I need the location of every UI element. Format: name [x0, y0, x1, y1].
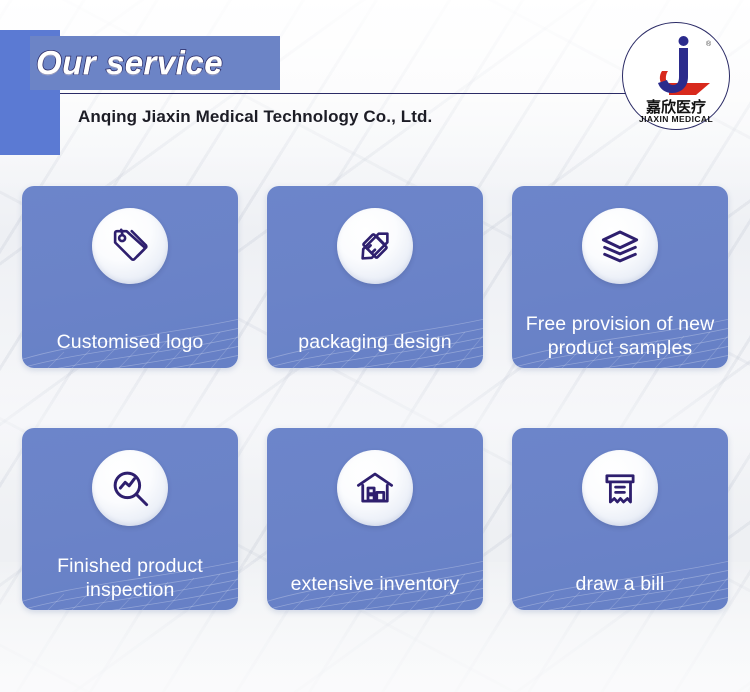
service-card-label: extensive inventory [275, 572, 475, 596]
service-card-finished-product-inspection[interactable]: Finished product inspection [22, 428, 238, 610]
warehouse-icon [337, 450, 413, 526]
service-card-free-samples[interactable]: Free provision of new product samples [512, 186, 728, 368]
company-name: Anqing Jiaxin Medical Technology Co., Lt… [78, 107, 432, 127]
layers-icon [582, 208, 658, 284]
receipt-icon [582, 450, 658, 526]
service-card-draw-a-bill[interactable]: draw a bill [512, 428, 728, 610]
service-card-packaging-design[interactable]: packaging design [267, 186, 483, 368]
service-card-label: draw a bill [520, 572, 720, 596]
page-header: Our service Anqing Jiaxin Medical Techno… [0, 0, 750, 170]
tag-icon [92, 208, 168, 284]
page-title: Our service [30, 36, 290, 90]
pencil-ruler-icon [337, 208, 413, 284]
magnifier-chart-icon [92, 450, 168, 526]
our-service-page: Our service Anqing Jiaxin Medical Techno… [0, 0, 750, 692]
header-divider [60, 93, 630, 94]
service-card-grid: Customised logo [22, 186, 728, 610]
company-logo: ® 嘉欣医疗 JIAXIN MEDICAL [622, 22, 730, 130]
service-card-label: Free provision of new product samples [520, 312, 720, 360]
svg-text:JIAXIN MEDICAL: JIAXIN MEDICAL [639, 114, 713, 124]
service-card-customised-logo[interactable]: Customised logo [22, 186, 238, 368]
service-card-extensive-inventory[interactable]: extensive inventory [267, 428, 483, 610]
service-card-label: Finished product inspection [30, 554, 230, 602]
svg-text:®: ® [706, 40, 712, 48]
service-card-label: packaging design [275, 330, 475, 354]
logo-mark-icon: ® 嘉欣医疗 JIAXIN MEDICAL [622, 22, 730, 130]
service-card-label: Customised logo [30, 330, 230, 354]
